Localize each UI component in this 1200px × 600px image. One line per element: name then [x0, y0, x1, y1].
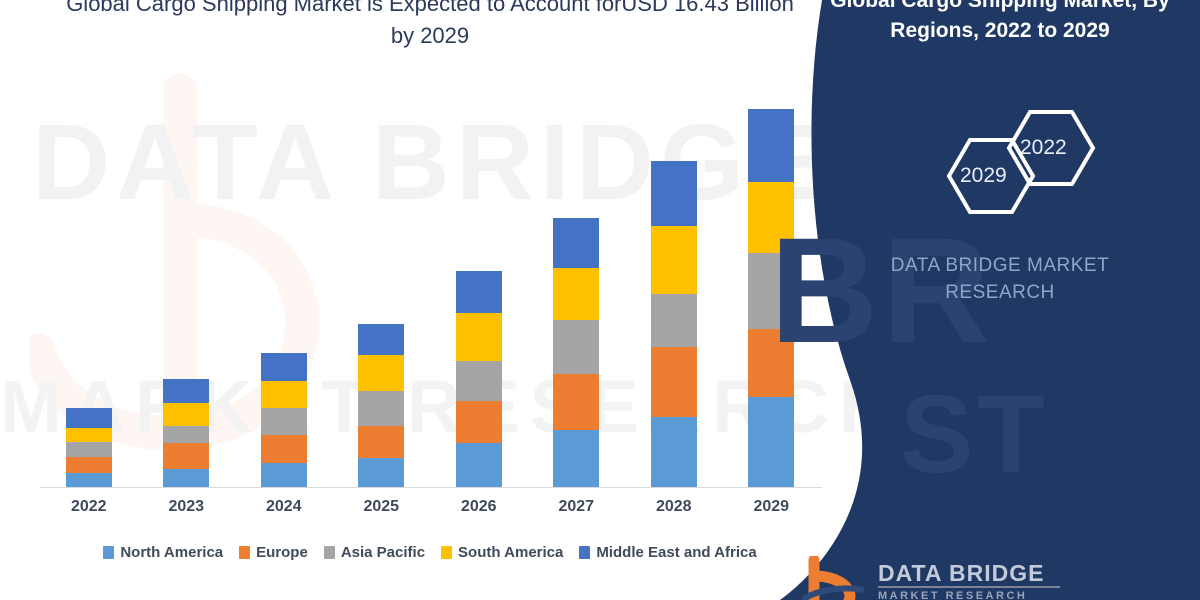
stacked-bar[interactable]: [456, 271, 502, 488]
x-axis-line: [40, 487, 822, 488]
bar-segment: [358, 324, 404, 355]
brand-name-line-2: RESEARCH: [820, 282, 1180, 304]
bar-segment: [261, 435, 307, 463]
x-axis-tick-label: 2024: [235, 498, 333, 516]
legend-swatch-icon: [324, 546, 335, 559]
x-axis-labels: 20222023202420252026202720282029: [40, 498, 820, 524]
brand-name-line-1: DATA BRIDGE MARKET: [820, 255, 1180, 277]
legend-item[interactable]: South America: [441, 544, 563, 561]
legend-label: Middle East and Africa: [596, 544, 756, 561]
x-axis-tick-label: 2027: [528, 498, 626, 516]
bar-segment: [553, 430, 599, 488]
bar-segment: [456, 271, 502, 313]
logo-b-icon: [802, 556, 868, 600]
bar-group: [333, 100, 431, 488]
brand-panel: BR ST Global Cargo Shipping Market, By R…: [780, 0, 1200, 600]
bar-segment: [261, 463, 307, 488]
bar-segment: [163, 469, 209, 488]
bar-group: [625, 100, 723, 488]
bar-segment: [553, 374, 599, 430]
bar-segment: [163, 443, 209, 469]
bar-segment: [553, 218, 599, 269]
stacked-bar-plot: [40, 100, 820, 488]
x-axis-tick-label: 2025: [333, 498, 431, 516]
x-axis-tick-label: 2026: [430, 498, 528, 516]
dbmr-logo: DATA BRIDGE MARKET RESEARCH: [802, 556, 1200, 600]
stacked-bar[interactable]: [66, 408, 112, 488]
bar-segment: [66, 473, 112, 488]
bar-segment: [553, 320, 599, 374]
bar-segment: [358, 391, 404, 425]
bar-group: [40, 100, 138, 488]
x-axis-tick-label: 2023: [138, 498, 236, 516]
legend-item[interactable]: Asia Pacific: [324, 544, 425, 561]
logo-subtitle: MARKET RESEARCH: [878, 590, 1027, 600]
bar-group: [235, 100, 333, 488]
x-axis-tick-label: 2028: [625, 498, 723, 516]
legend-label: Europe: [256, 544, 308, 561]
bar-segment: [651, 347, 697, 417]
logo-title: DATA BRIDGE: [878, 560, 1044, 587]
bar-segment: [358, 355, 404, 391]
bar-group: [430, 100, 528, 488]
bar-segment: [66, 428, 112, 442]
bar-segment: [456, 443, 502, 488]
bar-group: [138, 100, 236, 488]
infographic-canvas: DATA BRIDGE MARKET RESEARCH Global Cargo…: [0, 0, 1200, 600]
logo-divider: [878, 586, 1060, 588]
panel-title: Global Cargo Shipping Market, By Regions…: [820, 0, 1180, 46]
legend-item[interactable]: Middle East and Africa: [579, 544, 756, 561]
bar-segment: [66, 457, 112, 473]
bar-segment: [163, 379, 209, 403]
legend-swatch-icon: [441, 546, 452, 559]
bar-segment: [651, 417, 697, 488]
legend-swatch-icon: [579, 546, 590, 559]
hexagon-label-2029: 2029: [960, 164, 1007, 188]
bar-segment: [261, 353, 307, 381]
legend-item[interactable]: Europe: [239, 544, 308, 561]
stacked-bar[interactable]: [163, 379, 209, 488]
bar-segment: [651, 226, 697, 294]
bar-segment: [358, 426, 404, 458]
bar-segment: [651, 294, 697, 347]
bar-segment: [66, 442, 112, 457]
page-title: Global Cargo Shipping Market is Expected…: [60, 0, 800, 52]
legend-swatch-icon: [103, 546, 114, 559]
bar-segment: [456, 401, 502, 443]
stacked-bar[interactable]: [358, 324, 404, 488]
legend-label: North America: [120, 544, 223, 561]
bar-segment: [553, 268, 599, 320]
bar-group: [528, 100, 626, 488]
bar-segment: [651, 161, 697, 226]
stacked-bar[interactable]: [651, 161, 697, 488]
chart-legend: North AmericaEuropeAsia PacificSouth Ame…: [40, 540, 820, 564]
bar-segment: [163, 426, 209, 443]
stacked-bar[interactable]: [261, 353, 307, 488]
bar-segment: [66, 408, 112, 427]
hexagon-group: 2022 2029: [780, 100, 1200, 240]
bar-segment: [456, 313, 502, 360]
bar-segment: [261, 381, 307, 408]
x-axis-tick-label: 2022: [40, 498, 138, 516]
bar-segment: [358, 458, 404, 488]
chart-panel: DATA BRIDGE MARKET RESEARCH Global Cargo…: [0, 0, 860, 600]
legend-label: South America: [458, 544, 563, 561]
bar-segment: [261, 408, 307, 435]
legend-label: Asia Pacific: [341, 544, 425, 561]
stacked-bar[interactable]: [553, 218, 599, 488]
legend-swatch-icon: [239, 546, 250, 559]
navy-watermark-letters-2: ST: [900, 380, 1049, 490]
bar-segment: [456, 361, 502, 401]
hexagon-label-2022: 2022: [1020, 136, 1067, 160]
legend-item[interactable]: North America: [103, 544, 223, 561]
bar-segment: [163, 403, 209, 426]
